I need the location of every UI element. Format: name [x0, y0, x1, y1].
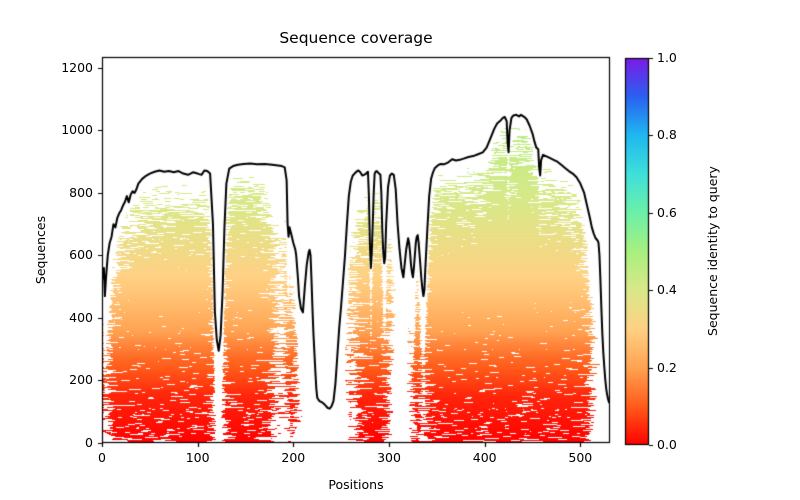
colorbar-tick-label: 0.6	[657, 207, 677, 220]
colorbar-label: Sequence identity to query	[707, 166, 720, 336]
page-title: Sequence coverage	[279, 31, 432, 47]
y-tick-label: 0	[0, 437, 93, 450]
colorbar-tick-label: 0.8	[657, 129, 677, 142]
colorbar-tick-label: 1.0	[657, 52, 677, 65]
x-tick-label: 100	[186, 452, 210, 465]
colorbar-tick-label: 0.4	[657, 284, 677, 297]
x-tick-label: 0	[98, 452, 106, 465]
y-tick-label: 200	[0, 374, 93, 387]
figure-canvas-container: Sequence coverage Positions Sequences Se…	[0, 0, 800, 500]
x-tick-label: 500	[568, 452, 592, 465]
x-tick-label: 400	[473, 452, 497, 465]
colorbar-tick-label: 0.0	[657, 439, 677, 452]
x-tick-label: 200	[281, 452, 305, 465]
y-tick-label: 400	[0, 312, 93, 325]
x-tick-label: 300	[377, 452, 401, 465]
y-tick-label: 1000	[0, 124, 93, 137]
x-axis-label: Positions	[328, 479, 383, 492]
y-tick-label: 600	[0, 249, 93, 262]
y-tick-label: 800	[0, 187, 93, 200]
y-tick-label: 1200	[0, 62, 93, 75]
colorbar-tick-label: 0.2	[657, 361, 677, 374]
sequence-coverage-plot	[0, 0, 800, 500]
